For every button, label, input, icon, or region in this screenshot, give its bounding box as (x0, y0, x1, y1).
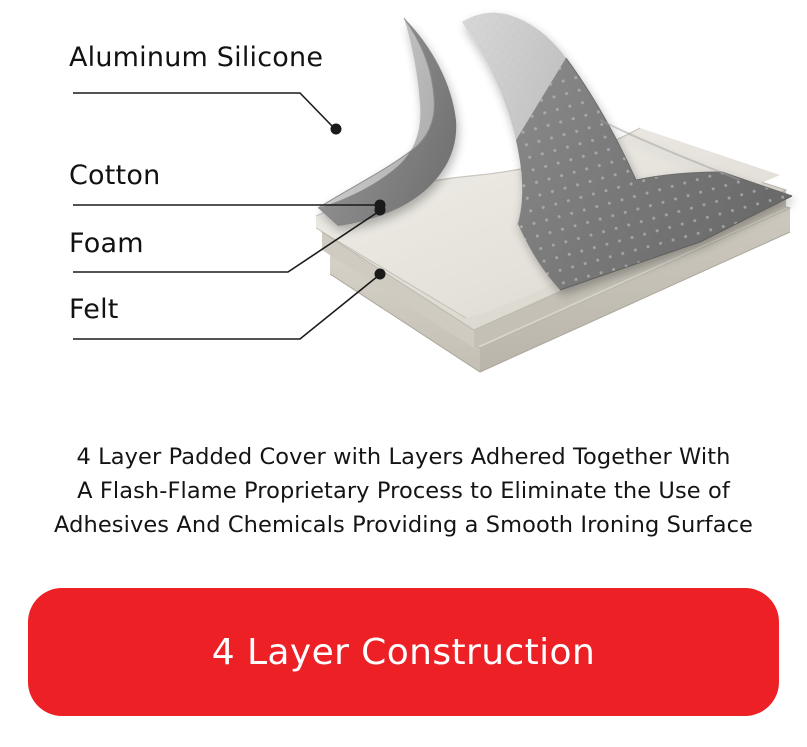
label-foam: Foam (69, 228, 144, 259)
leader-line-felt (73, 276, 378, 339)
caption-line-1: 4 Layer Padded Cover with Layers Adhered… (0, 440, 807, 474)
label-felt: Felt (69, 294, 119, 325)
layer-construction-illustration: Aluminum Silicone Cotton Foam Felt (0, 0, 807, 420)
label-cotton: Cotton (69, 160, 160, 191)
construction-banner: 4 Layer Construction (28, 588, 779, 716)
label-aluminum-silicone: Aluminum Silicone (69, 42, 323, 73)
caption-block: 4 Layer Padded Cover with Layers Adhered… (0, 440, 807, 542)
caption-line-3: Adhesives And Chemicals Providing a Smoo… (0, 508, 807, 542)
dot-felt (375, 269, 386, 280)
dot-foam (375, 205, 386, 216)
leader-line-aluminum (73, 93, 333, 127)
banner-label: 4 Layer Construction (212, 632, 595, 673)
caption-line-2: A Flash-Flame Proprietary Process to Eli… (0, 474, 807, 508)
dot-aluminum (331, 124, 342, 135)
product-infographic: Aluminum Silicone Cotton Foam Felt 4 Lay… (0, 0, 807, 747)
